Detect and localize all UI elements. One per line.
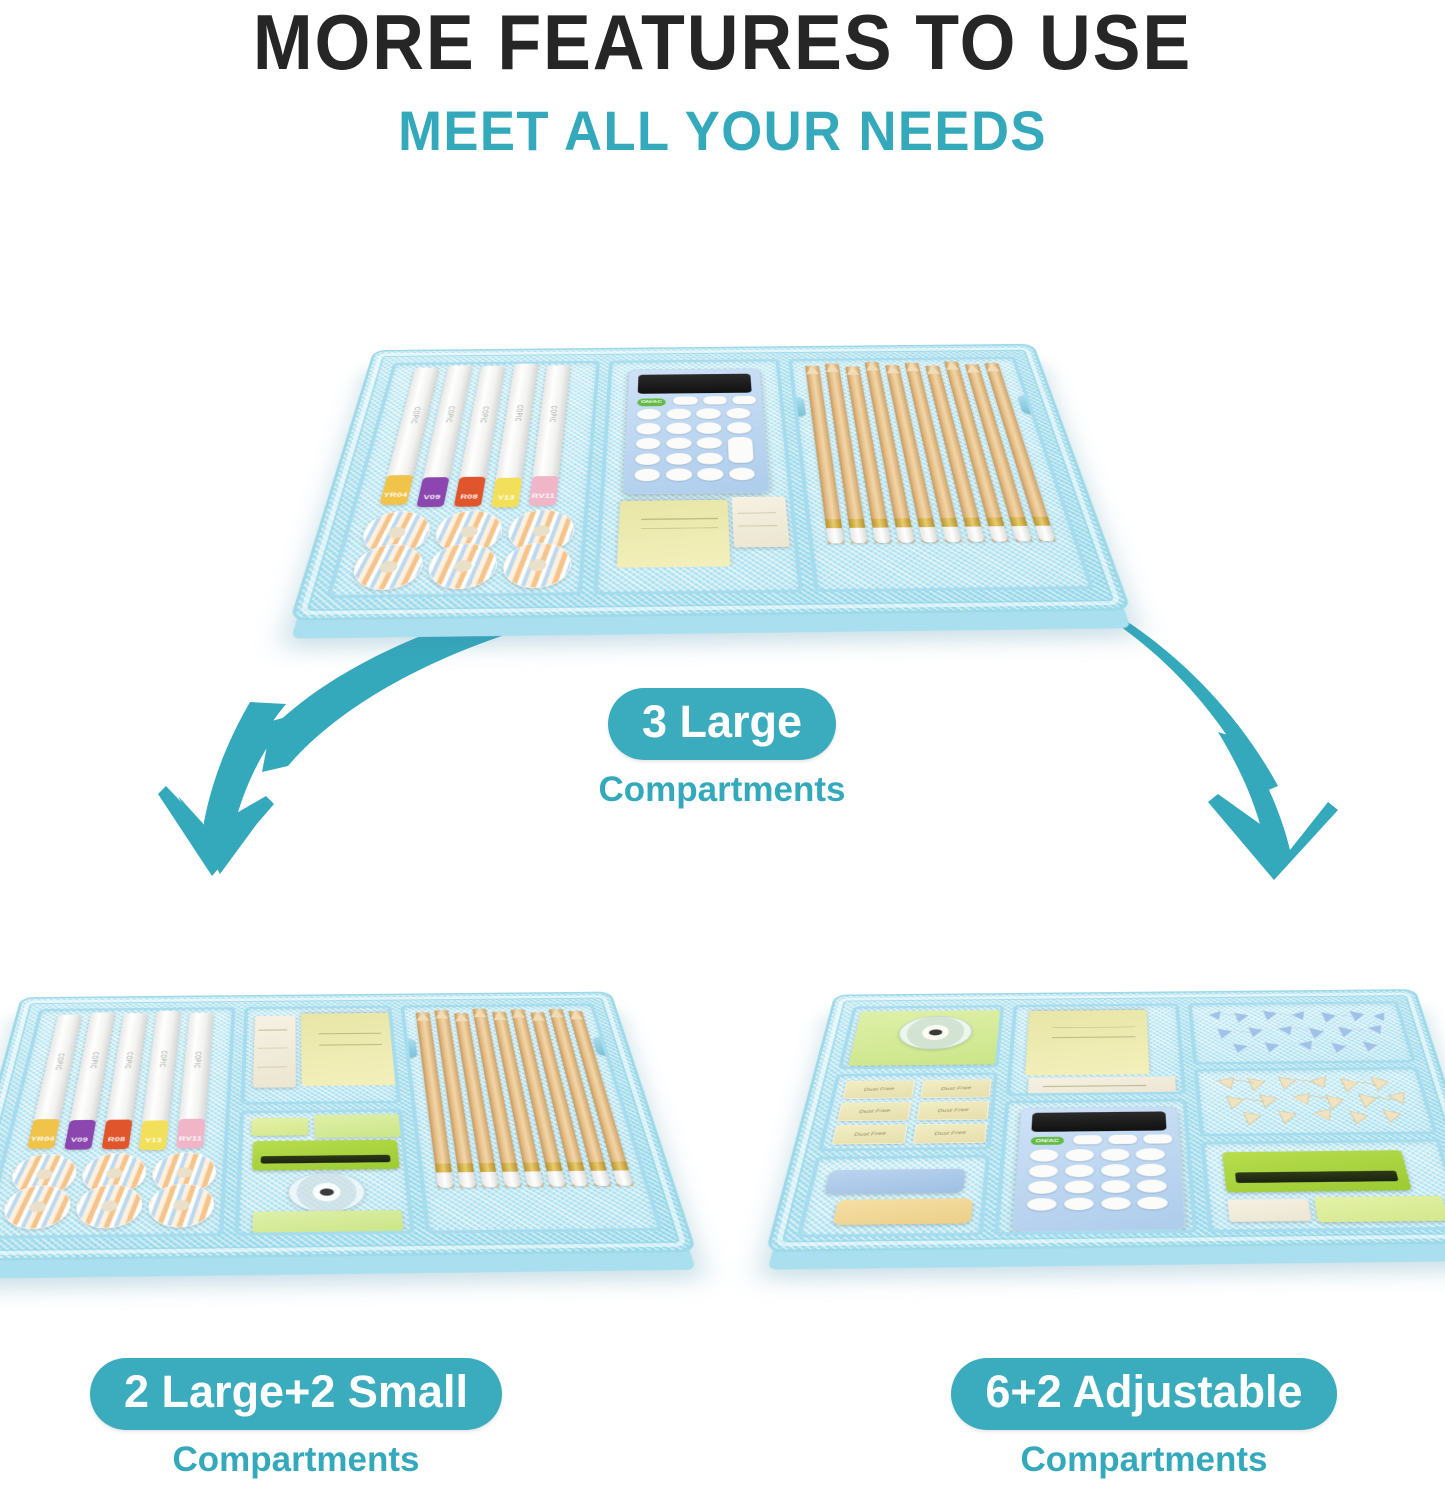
pill-2-large-2-small-sub: Compartments: [0, 1440, 596, 1480]
pill-6-plus-2-adjustable: 6+2 Adjustable: [951, 1358, 1336, 1430]
pill-3-large-sub: Compartments: [432, 770, 1012, 810]
compartment-blue-push-pins: [1188, 1001, 1416, 1064]
label-6-plus-2-adjustable: 6+2 Adjustable Compartments: [846, 1358, 1442, 1480]
kraft-push-pins: [1198, 1069, 1433, 1134]
compartment-sticky-notes: [240, 1006, 401, 1105]
heading-block: MORE FEATURES TO USE MEET ALL YOUR NEEDS: [0, 0, 1445, 160]
arrow-to-bottom-right-icon: [1058, 590, 1388, 880]
pill-3-large: 3 Large: [608, 688, 836, 760]
note-pad: [732, 496, 790, 547]
compartment-notes: [1006, 1003, 1186, 1096]
tray-6-plus-2-adjustable-compartments: Dust Free Dust Free Dust Free Dust Free …: [805, 900, 1445, 1310]
compartment-correction-tape: [838, 1005, 1005, 1069]
blue-push-pins: [1192, 1003, 1412, 1062]
page-subtitle: MEET ALL YOUR NEEDS: [43, 82, 1401, 160]
pill-6-plus-2-adjustable-sub: Compartments: [846, 1440, 1442, 1480]
label-3-large: 3 Large Compartments: [432, 688, 1012, 810]
sticky-note: [617, 500, 731, 568]
tray-2-large-2-small-compartments: YR04COPIC V09COPIC R08COPIC Y13COPIC RV1…: [0, 900, 650, 1320]
compartment-markers: YR04COPIC V09COPIC R08COPIC Y13COPIC RV1…: [0, 1007, 236, 1239]
tray-3-large-compartments: YR04 COPIC V09 COPIC R08 COPIC Y13 COPIC…: [338, 250, 1078, 680]
calculator-on-ac-key: ON/AC: [637, 398, 665, 406]
page-title: MORE FEATURES TO USE: [58, 0, 1387, 82]
compartment-calculator: ON/AC: [593, 359, 803, 595]
pill-2-large-2-small: 2 Large+2 Small: [90, 1358, 502, 1430]
label-2-large-2-small: 2 Large+2 Small Compartments: [0, 1358, 596, 1480]
